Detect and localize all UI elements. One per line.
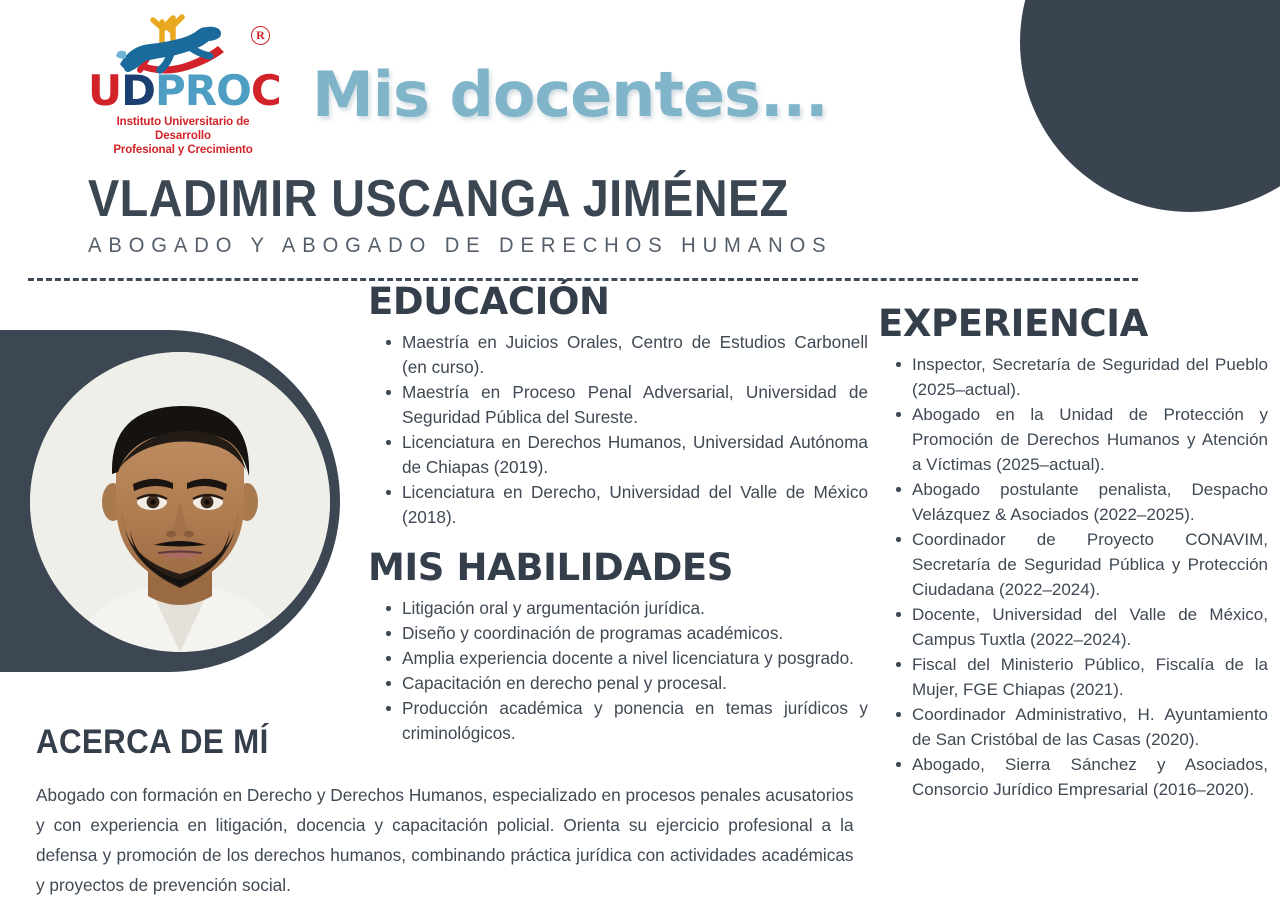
- list-item: Coordinador Administrativo, H. Ayuntamie…: [912, 702, 1268, 752]
- logo-tagline: Instituto Universitario de Desarrollo Pr…: [88, 115, 278, 157]
- list-item: Maestría en Proceso Penal Adversarial, U…: [402, 380, 868, 430]
- list-item: Abogado en la Unidad de Protección y Pro…: [912, 402, 1268, 477]
- name-block: VLADIMIR USCANGA JIMÉNEZ ABOGADO Y ABOGA…: [0, 170, 1280, 258]
- logo-letter-d: D: [121, 66, 155, 115]
- logo-wordmark: UDPROC: [88, 74, 278, 108]
- udproc-logo: R UDPROC Instituto Universitario de Desa…: [88, 6, 278, 157]
- list-item: Licenciatura en Derechos Humanos, Univer…: [402, 430, 868, 480]
- list-item: Inspector, Secretaría de Seguridad del P…: [912, 352, 1268, 402]
- logo-tagline-line2: Profesional y Crecimiento: [88, 143, 278, 157]
- list-item: Capacitación en derecho penal y procesal…: [402, 671, 868, 696]
- list-item: Fiscal del Ministerio Público, Fiscalía …: [912, 652, 1268, 702]
- experience-list: Inspector, Secretaría de Seguridad del P…: [878, 352, 1268, 802]
- page-header: R UDPROC Instituto Universitario de Desa…: [0, 0, 1280, 170]
- about-section: ACERCA DE MÍ Abogado con formación en De…: [36, 720, 866, 900]
- logo-tagline-line1: Instituto Universitario de Desarrollo: [88, 115, 278, 143]
- list-item: Abogado postulante penalista, Despacho V…: [912, 477, 1268, 527]
- list-item: Abogado, Sierra Sánchez y Asociados, Con…: [912, 752, 1268, 802]
- person-name: VLADIMIR USCANGA JIMÉNEZ: [88, 170, 1161, 228]
- experience-heading: EXPERIENCIA: [878, 302, 1268, 346]
- portrait-photo: [30, 352, 330, 652]
- list-item: Docente, Universidad del Valle de México…: [912, 602, 1268, 652]
- page-title: Mis docentes...: [312, 58, 828, 131]
- education-section: EDUCACIÓN Maestría en Juicios Orales, Ce…: [368, 280, 868, 530]
- about-text: Abogado con formación en Derecho y Derec…: [36, 780, 854, 900]
- list-item: Coordinador de Proyecto CONAVIM, Secreta…: [912, 527, 1268, 602]
- logo-letter-c: C: [251, 66, 281, 115]
- registered-trademark-icon: R: [251, 26, 270, 45]
- experience-column: EXPERIENCIA Inspector, Secretaría de Seg…: [878, 302, 1268, 802]
- list-item: Amplia experiencia docente a nivel licen…: [402, 646, 868, 671]
- education-list: Maestría en Juicios Orales, Centro de Es…: [368, 330, 868, 530]
- person-role: ABOGADO Y ABOGADO DE DERECHOS HUMANOS: [88, 234, 1232, 258]
- list-item: Maestría en Juicios Orales, Centro de Es…: [402, 330, 868, 380]
- education-skills-column: EDUCACIÓN Maestría en Juicios Orales, Ce…: [368, 280, 868, 746]
- skills-section: MIS HABILIDADES Litigación oral y argume…: [368, 546, 868, 746]
- skills-heading: MIS HABILIDADES: [368, 546, 868, 590]
- about-heading: ACERCA DE MÍ: [36, 720, 800, 764]
- education-heading: EDUCACIÓN: [368, 280, 868, 324]
- list-item: Licenciatura en Derecho, Universidad del…: [402, 480, 868, 530]
- logo-letters-pro: PRO: [155, 66, 251, 115]
- list-item: Litigación oral y argumentación jurídica…: [402, 596, 868, 621]
- logo-letter-u: U: [88, 66, 121, 115]
- list-item: Diseño y coordinación de programas acadé…: [402, 621, 868, 646]
